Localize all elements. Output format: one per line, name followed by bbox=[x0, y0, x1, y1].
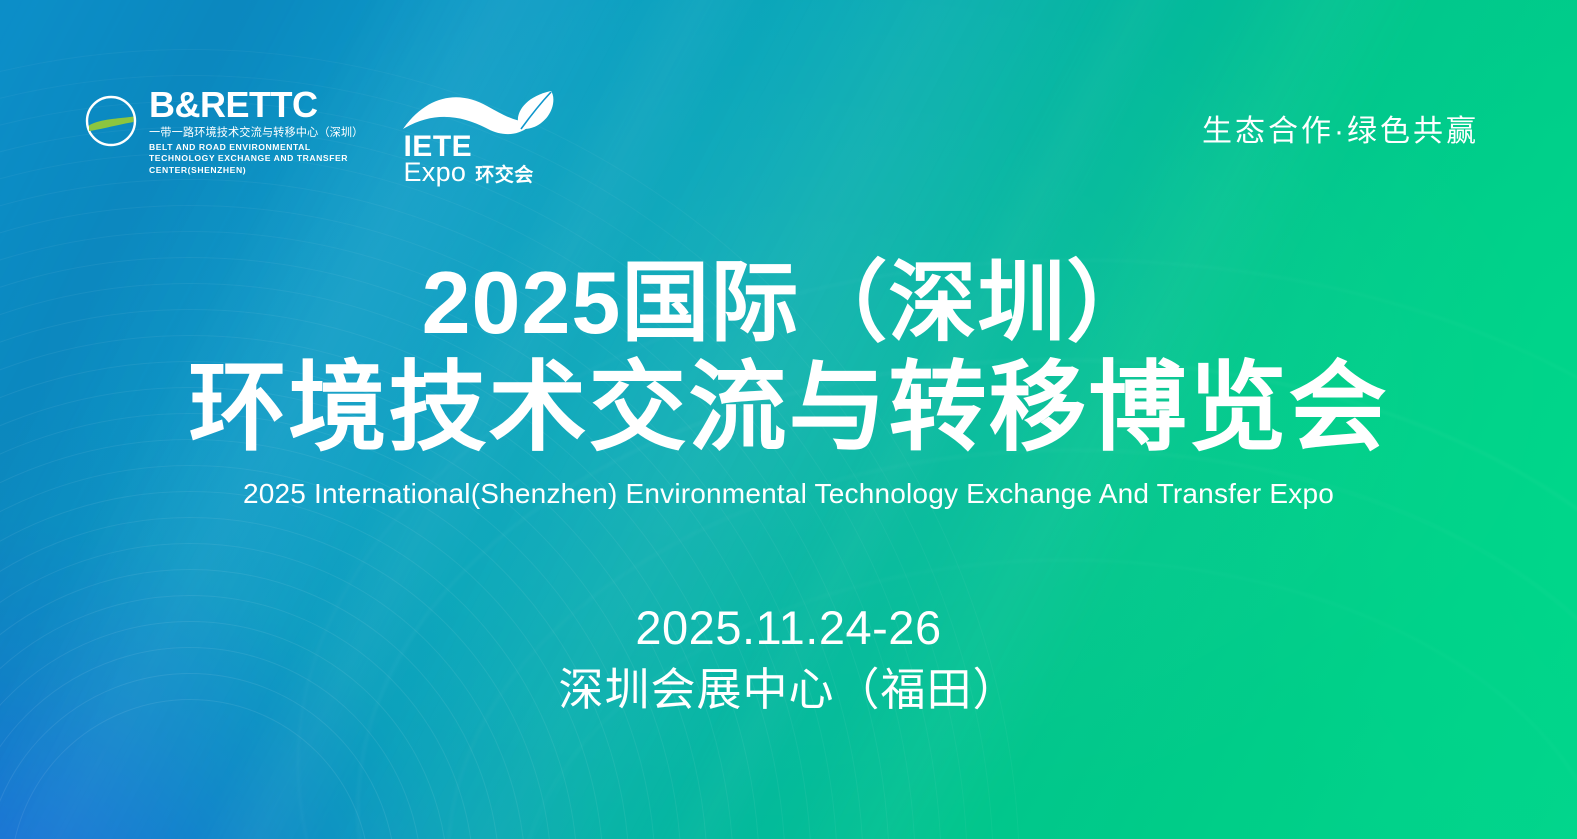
globe-circle-icon bbox=[84, 94, 138, 153]
title-line-2: 环境技术交流与转移博览会 bbox=[0, 356, 1577, 460]
event-venue: 深圳会展中心（福田） bbox=[0, 663, 1577, 717]
logo-group: B&RETTC 一带一路环境技术交流与转移中心（深圳） BELT AND ROA… bbox=[84, 88, 561, 188]
brettc-english-name: BELT AND ROAD ENVIRONMENTAL TECHNOLOGY E… bbox=[149, 142, 359, 177]
event-info-block: 2025.11.24-26 深圳会展中心（福田） bbox=[0, 602, 1577, 717]
title-block: 2025国际（深圳） 环境技术交流与转移博览会 2025 Internation… bbox=[0, 258, 1577, 510]
brettc-chinese-name: 一带一路环境技术交流与转移中心（深圳） bbox=[149, 126, 363, 140]
iete-expo-word: Expo bbox=[403, 159, 466, 186]
event-banner: B&RETTC 一带一路环境技术交流与转移中心（深圳） BELT AND ROA… bbox=[0, 0, 1577, 839]
event-date: 2025.11.24-26 bbox=[0, 602, 1577, 655]
logo-brettc: B&RETTC 一带一路环境技术交流与转移中心（深圳） BELT AND ROA… bbox=[84, 88, 363, 176]
logo-iete-expo: IETE Expo 环交会 bbox=[401, 88, 561, 188]
banner-header: B&RETTC 一带一路环境技术交流与转移中心（深圳） BELT AND ROA… bbox=[0, 0, 1577, 210]
brettc-wordmark: B&RETTC bbox=[149, 88, 363, 123]
english-subtitle: 2025 International(Shenzhen) Environment… bbox=[0, 478, 1577, 510]
iete-chinese-short: 环交会 bbox=[475, 166, 534, 185]
banner-slogan: 生态合作·绿色共赢 bbox=[1202, 106, 1479, 150]
title-line-1: 2025国际（深圳） bbox=[0, 258, 1577, 348]
